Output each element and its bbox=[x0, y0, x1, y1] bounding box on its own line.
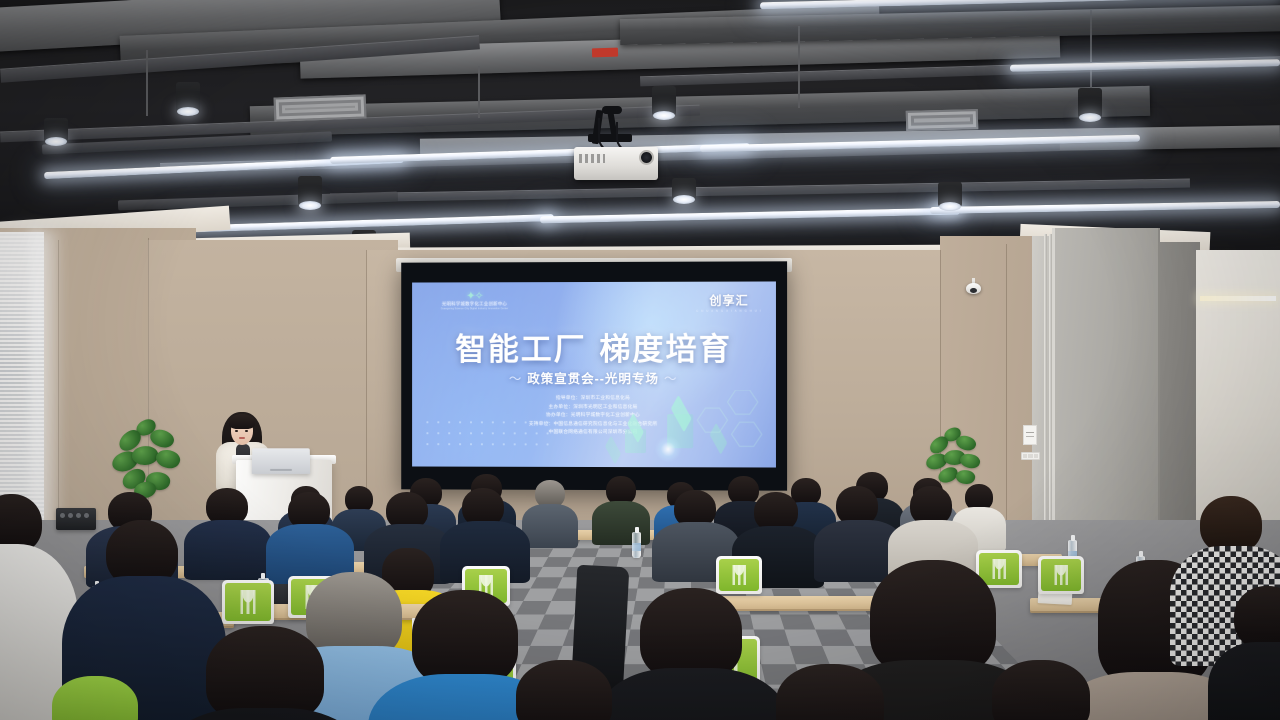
cylinder-downlight bbox=[1078, 88, 1102, 118]
sparkle-icon: ✦✧ bbox=[426, 291, 523, 301]
pipe-hanger bbox=[798, 26, 800, 108]
slide-subtitle-ornament-right: 〜 bbox=[664, 372, 678, 386]
corridor-light bbox=[1200, 296, 1276, 301]
slide-logo-left: ✦✧ 光明科学城数字化工业创新中心 Guangming Science City… bbox=[426, 291, 523, 311]
chair-pad bbox=[225, 583, 271, 621]
led-housing bbox=[118, 192, 398, 211]
audio-mixer[interactable] bbox=[56, 508, 96, 530]
slide-subtitle-text: 政策宣贯会--光明专场 bbox=[527, 372, 659, 386]
cylinder-downlight bbox=[44, 118, 68, 142]
projector-lens bbox=[641, 152, 652, 163]
ceiling-beam bbox=[330, 178, 1190, 202]
slide-logo-right-en: C H U A N G X I A N G H U I bbox=[696, 310, 762, 313]
chair-pad bbox=[719, 559, 759, 591]
chair-pad bbox=[979, 553, 1019, 585]
presenter-eye bbox=[235, 430, 238, 432]
pipe-hanger bbox=[478, 66, 480, 118]
dot-grid-pattern bbox=[422, 417, 551, 451]
window-light-glow bbox=[30, 230, 66, 540]
air-vent bbox=[274, 94, 367, 121]
movable-partition-wall bbox=[1160, 242, 1200, 542]
duct-tag bbox=[592, 48, 618, 58]
presentation-slide: ✦✧ 光明科学城数字化工业创新中心 Guangming Science City… bbox=[412, 281, 776, 467]
presenter-fringe bbox=[229, 414, 255, 429]
pipe-hanger bbox=[1090, 10, 1092, 96]
chair[interactable] bbox=[1038, 556, 1084, 594]
ceiling-projector bbox=[574, 147, 658, 180]
laptop bbox=[252, 448, 310, 474]
cylinder-downlight bbox=[652, 86, 676, 116]
partition-mullion bbox=[1044, 234, 1047, 560]
slide-title: 智能工厂 梯度培育 bbox=[412, 324, 776, 369]
projection-screen: ✦✧ 光明科学城数字化工业创新中心 Guangming Science City… bbox=[401, 261, 787, 490]
slide-subtitle-ornament-left: 〜 bbox=[509, 372, 522, 386]
light-switch-panel[interactable] bbox=[1021, 452, 1040, 460]
water-bottle bbox=[632, 532, 641, 558]
slide-subtitle: 〜政策宣贯会--光明专场〜 bbox=[412, 368, 776, 387]
slide-logo-right-cn: 创享汇 bbox=[696, 292, 762, 309]
cylinder-downlight bbox=[176, 82, 200, 112]
potted-plant bbox=[112, 420, 186, 498]
wall-panel-seam bbox=[366, 250, 367, 510]
pipe-hanger bbox=[146, 50, 148, 116]
slide-logo-right: 创享汇 C H U A N G X I A N G H U I bbox=[696, 292, 762, 313]
dome-security-camera bbox=[966, 283, 981, 294]
wall-panel-seam bbox=[1006, 244, 1007, 544]
cylinder-downlight bbox=[938, 182, 962, 207]
led-strip-light bbox=[930, 201, 1280, 214]
chair[interactable] bbox=[716, 556, 762, 594]
conference-room-photo: ✦✧ 光明科学城数字化工业创新中心 Guangming Science City… bbox=[0, 0, 1280, 720]
led-strip-light bbox=[540, 208, 960, 224]
cylinder-downlight bbox=[672, 178, 696, 200]
cylinder-downlight bbox=[298, 176, 322, 206]
air-vent bbox=[906, 109, 978, 131]
movable-partition-wall bbox=[1052, 228, 1160, 558]
partition-mullion bbox=[1049, 234, 1052, 560]
hexagon-pattern bbox=[691, 390, 770, 452]
chair-pad bbox=[1041, 559, 1081, 591]
projector-grille bbox=[579, 154, 605, 163]
wall-sign bbox=[1023, 425, 1037, 445]
presenter-eye bbox=[245, 430, 248, 432]
chair[interactable] bbox=[222, 580, 274, 624]
slide-logo-left-en: Guangming Science City Digital Industry … bbox=[426, 307, 523, 311]
light-burst-icon bbox=[655, 436, 681, 462]
